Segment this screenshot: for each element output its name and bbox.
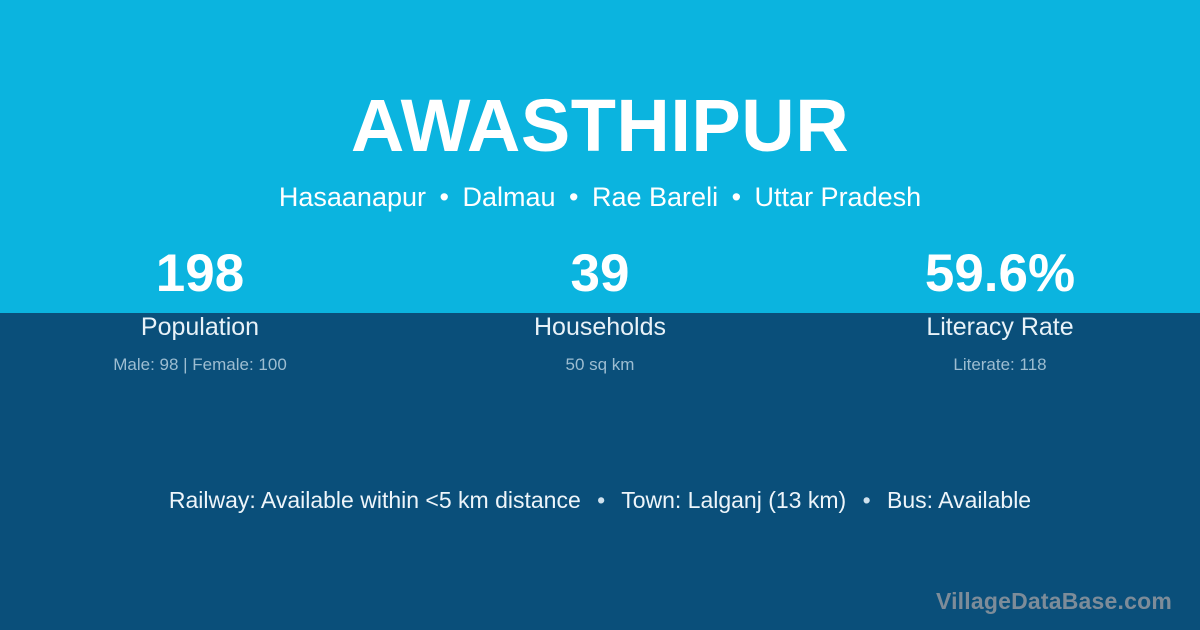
breadcrumb-separator: • — [434, 182, 455, 212]
infrastructure-separator: • — [853, 487, 881, 513]
breadcrumb-separator: • — [563, 182, 584, 212]
stat-value: 39 — [400, 243, 800, 305]
village-info-card: AWASTHIPUR Hasaanapur • Dalmau • Rae Bar… — [0, 0, 1200, 630]
breadcrumb: Hasaanapur • Dalmau • Rae Bareli • Uttar… — [0, 168, 1200, 214]
stat-households: 39 Households 50 sq km — [400, 243, 800, 377]
stat-literacy-rate: 59.6% Literacy Rate Literate: 118 — [800, 243, 1200, 377]
stat-label: Households — [400, 305, 800, 343]
stats-row: 198 Population Male: 98 | Female: 100 39… — [0, 243, 1200, 377]
stat-sublabel: Male: 98 | Female: 100 — [0, 343, 400, 377]
breadcrumb-item-block: Dalmau — [462, 182, 555, 212]
stat-label: Literacy Rate — [800, 305, 1200, 343]
site-watermark: VillageDataBase.com — [936, 586, 1172, 616]
stat-sublabel: Literate: 118 — [800, 343, 1200, 377]
infrastructure-item-railway: Railway: Available within <5 km distance — [169, 487, 581, 513]
header: AWASTHIPUR Hasaanapur • Dalmau • Rae Bar… — [0, 0, 1200, 214]
infrastructure-item-bus: Bus: Available — [887, 487, 1031, 513]
stat-value: 59.6% — [800, 243, 1200, 305]
stat-sublabel: 50 sq km — [400, 343, 800, 377]
breadcrumb-separator: • — [726, 182, 747, 212]
breadcrumb-item-state: Uttar Pradesh — [755, 182, 922, 212]
stat-population: 198 Population Male: 98 | Female: 100 — [0, 243, 400, 377]
infrastructure-line: Railway: Available within <5 km distance… — [0, 484, 1200, 516]
breadcrumb-item-district: Rae Bareli — [592, 182, 718, 212]
stat-value: 198 — [0, 243, 400, 305]
page-title: AWASTHIPUR — [0, 0, 1200, 168]
infrastructure-item-town: Town: Lalganj (13 km) — [621, 487, 846, 513]
infrastructure-separator: • — [587, 487, 615, 513]
stat-label: Population — [0, 305, 400, 343]
breadcrumb-item-village: Hasaanapur — [279, 182, 426, 212]
